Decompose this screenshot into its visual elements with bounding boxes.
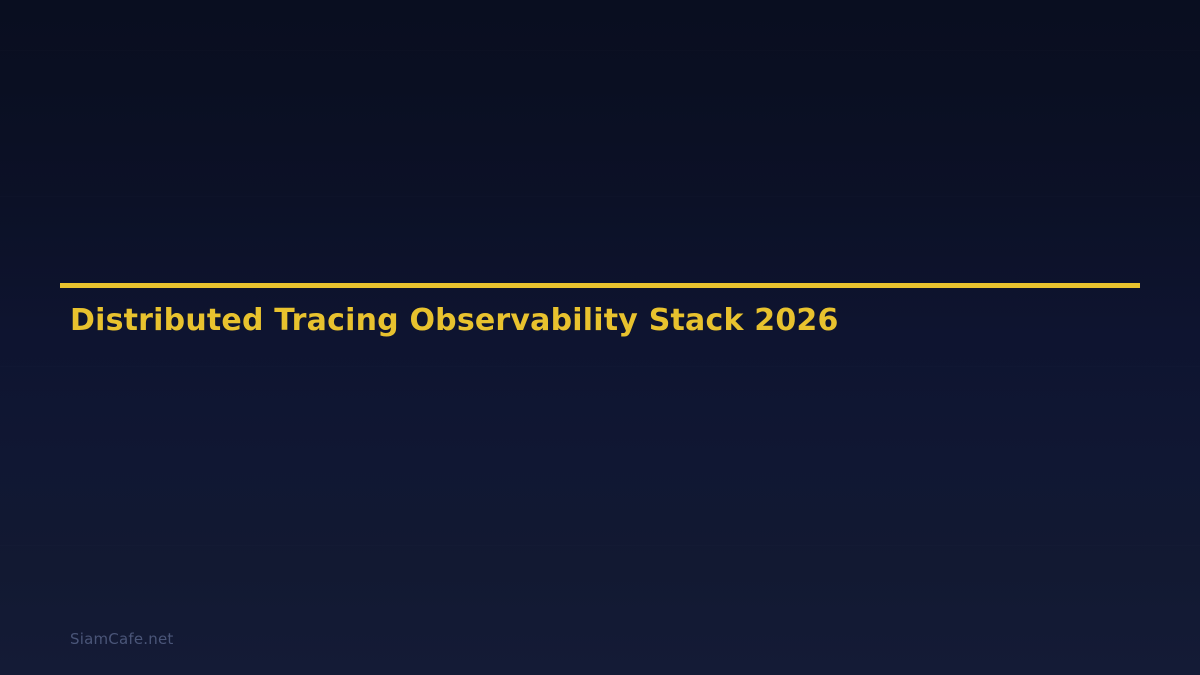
background-band (0, 196, 1200, 197)
slide-canvas: Distributed Tracing Observability Stack … (0, 0, 1200, 675)
page-title: Distributed Tracing Observability Stack … (60, 306, 839, 336)
background-band (0, 366, 1200, 367)
footer-branding: SiamCafe.net (70, 630, 173, 648)
background-band (0, 545, 1200, 546)
title-block: Distributed Tracing Observability Stack … (60, 283, 1140, 288)
accent-rule (60, 283, 1140, 288)
background-band (0, 50, 1200, 51)
